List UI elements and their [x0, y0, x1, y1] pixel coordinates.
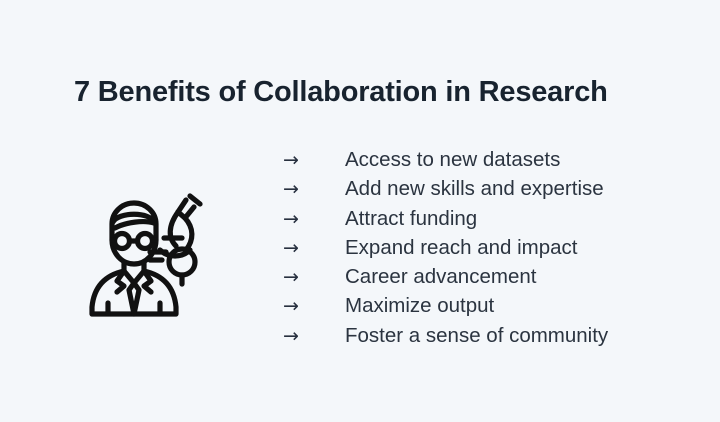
slide-canvas: 7 Benefits of Collaboration in Research: [0, 0, 720, 422]
arrow-right-icon: →: [283, 180, 345, 199]
list-item: → Maximize output: [283, 296, 608, 325]
arrow-right-icon: →: [283, 327, 345, 346]
page-title: 7 Benefits of Collaboration in Research: [74, 76, 608, 109]
list-item-label: Foster a sense of community: [345, 326, 608, 347]
scientist-with-microscope-icon: [82, 182, 212, 317]
list-item-label: Access to new datasets: [345, 150, 560, 171]
arrow-right-icon: →: [283, 239, 345, 258]
arrow-right-icon: →: [283, 210, 345, 229]
list-item-label: Career advancement: [345, 267, 536, 288]
list-item-label: Expand reach and impact: [345, 238, 577, 259]
list-item: → Foster a sense of community: [283, 326, 608, 355]
list-item: → Add new skills and expertise: [283, 179, 608, 208]
arrow-right-icon: →: [283, 297, 345, 316]
list-item-label: Add new skills and expertise: [345, 179, 604, 200]
arrow-right-icon: →: [283, 151, 345, 170]
list-item-label: Attract funding: [345, 209, 477, 230]
list-item: → Attract funding: [283, 209, 608, 238]
list-item: → Expand reach and impact: [283, 238, 608, 267]
list-item: → Access to new datasets: [283, 150, 608, 179]
arrow-right-icon: →: [283, 268, 345, 287]
list-item: → Career advancement: [283, 267, 608, 296]
benefits-list: → Access to new datasets → Add new skill…: [283, 150, 608, 355]
list-item-label: Maximize output: [345, 296, 494, 317]
